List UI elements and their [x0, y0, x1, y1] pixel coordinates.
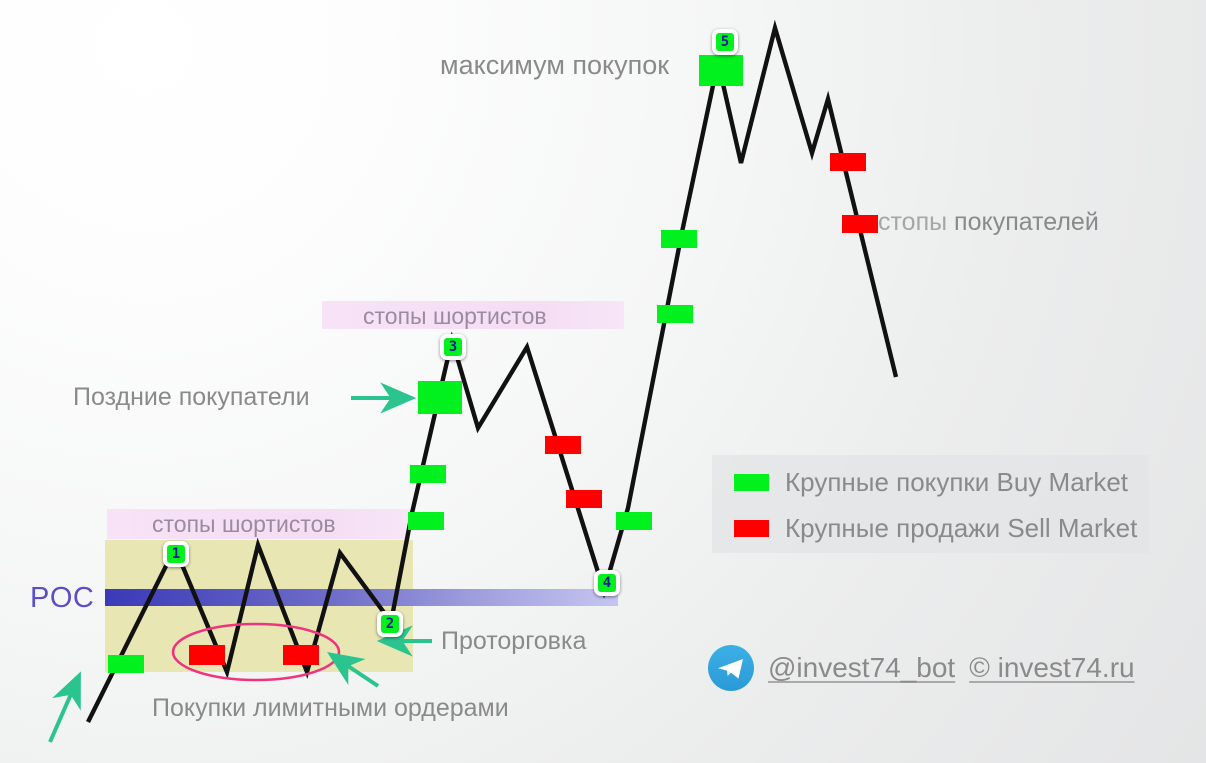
telegram-handle-link[interactable]: @invest74_bot [768, 652, 955, 684]
sell-block [566, 490, 602, 508]
sell-block [545, 436, 581, 454]
buy-block [410, 465, 446, 483]
legend-item-buy: Крупные покупки Buy Market [734, 467, 1128, 498]
legend-label-sell: Крупные продажи Sell Market [785, 513, 1137, 544]
buy-block [657, 305, 693, 323]
red-square-icon [734, 520, 769, 537]
sell-block [830, 153, 866, 171]
site-link[interactable]: © invest74.ru [969, 652, 1134, 684]
legend-label-buy: Крупные покупки Buy Market [785, 467, 1128, 498]
label-buyer-stops: стопы покупателей [878, 208, 1099, 237]
marker-1-value: 1 [167, 545, 185, 563]
poc-label: POC [30, 582, 94, 615]
zone-poc-band [105, 589, 618, 606]
legend-item-sell: Крупные продажи Sell Market [734, 513, 1137, 544]
label-limit-buys: Покупки лимитными ордерами [152, 694, 509, 723]
buy-block [408, 512, 444, 530]
sell-block [283, 645, 319, 665]
marker-1: 1 [163, 541, 189, 567]
marker-4: 4 [594, 570, 620, 596]
arrow-trend-start [50, 678, 78, 742]
marker-5-value: 5 [716, 33, 734, 51]
buy-block [699, 55, 743, 86]
footer: @invest74_bot © invest74.ru [708, 645, 1135, 691]
legend: Крупные покупки Buy Market Крупные прода… [712, 455, 1149, 553]
diagram-canvas: стопы шортистов стопы шортистов POC макс… [0, 0, 1206, 763]
marker-5: 5 [712, 29, 738, 55]
label-max-buys: максимум покупок [440, 50, 669, 81]
sell-block [842, 215, 878, 233]
marker-4-value: 4 [598, 574, 616, 592]
label-buyer-stops-prefix: стопы [878, 208, 954, 236]
marker-2: 2 [377, 611, 403, 637]
label-buyer-stops-main: покупателей [954, 208, 1099, 236]
label-late-buyers: Поздние покупатели [73, 383, 310, 412]
marker-3: 3 [440, 334, 466, 360]
buy-block [108, 655, 144, 673]
band-label-short-stops-upper: стопы шортистов [363, 303, 547, 330]
buy-block [418, 381, 462, 414]
label-consolidation: Проторговка [441, 627, 586, 656]
band-label-short-stops-lower: стопы шортистов [152, 511, 336, 538]
sell-block [189, 645, 225, 665]
telegram-icon[interactable] [708, 645, 754, 691]
buy-block [661, 230, 697, 248]
marker-3-value: 3 [444, 338, 462, 356]
buy-block [616, 512, 652, 530]
green-square-icon [734, 474, 769, 491]
marker-2-value: 2 [381, 615, 399, 633]
